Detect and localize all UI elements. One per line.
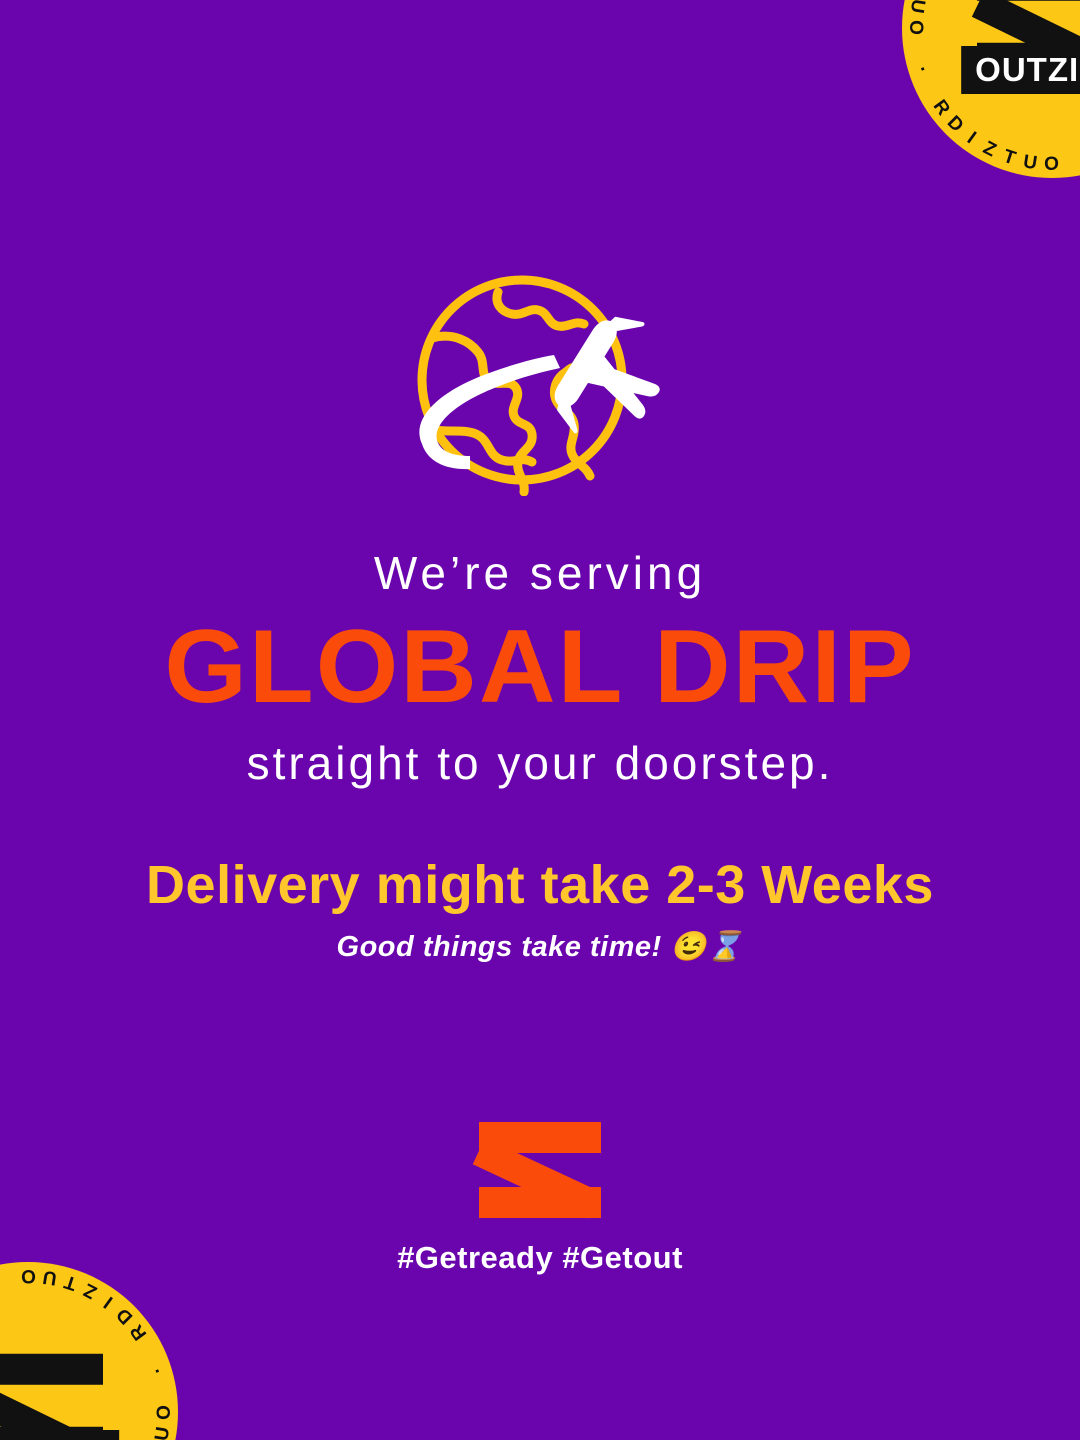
badge-wordmark-text: OUTZIDR <box>975 53 1080 86</box>
badge-wordmark-bar: OUTZIDR <box>961 46 1080 94</box>
badge-z-top-bar <box>0 1354 103 1385</box>
badge-ring-char: D <box>942 112 968 138</box>
outzidr-badge-bottom-left: OUTZIDR · OUTZIDR · OUTZIDR · OUTZIDR · … <box>0 1262 178 1440</box>
badge-z-glyph-icon <box>0 1354 103 1440</box>
badge-ring-char: T <box>61 1269 80 1294</box>
badge-ring-char: Z <box>80 1277 101 1302</box>
badge-ring-char: U <box>905 0 929 16</box>
badge-wordmark-bar: OUTZIDR <box>0 1430 119 1440</box>
badge-ring-char: O <box>20 1264 36 1286</box>
badge-ring-char: U <box>1022 151 1040 175</box>
outzidr-badge-top-right: OUTZIDR · OUTZIDR · OUTZIDR · OUTZIDR · … <box>902 0 1080 178</box>
badge-ring-char: · <box>147 1363 170 1377</box>
delivery-estimate-text: Delivery might take 2-3 Weeks <box>0 856 1080 915</box>
badge-ring-char: I <box>962 128 980 149</box>
eyebrow-text: We’re serving <box>0 548 1080 599</box>
outzidr-z-logo-icon <box>479 1122 601 1218</box>
badge-ring-char <box>1069 152 1079 175</box>
badge-ring-char: U <box>40 1265 58 1289</box>
hero-graphic <box>0 268 1080 496</box>
badge-ring-char <box>139 1342 161 1358</box>
badge-z-mark <box>0 1354 103 1440</box>
delivery-reassurance-text: Good things take time! 😉⌛ <box>0 930 1080 965</box>
badge-ring-char: Z <box>979 137 1000 162</box>
globe-with-airplane-icon <box>370 268 710 496</box>
badge-ring-char: O <box>154 1404 176 1420</box>
badge-ring-char <box>905 45 928 55</box>
badge-ring-char: U <box>151 1424 175 1440</box>
footer-brand-block: #Getready #Getout <box>0 1122 1080 1276</box>
badge-ring-char <box>152 1386 175 1396</box>
badge-ring-char: O <box>1044 154 1060 176</box>
copy-block: We’re serving GLOBAL DRIP straight to yo… <box>0 548 1080 965</box>
badge-ring-char <box>919 82 941 98</box>
page-title: GLOBAL DRIP <box>0 613 1080 722</box>
subline-text: straight to your doorstep. <box>0 738 1080 789</box>
badge-ring-char: R <box>126 1319 152 1344</box>
badge-ring-char: I <box>100 1290 118 1311</box>
badge-ring-char: T <box>1000 146 1019 171</box>
badge-ring-char <box>2 1265 12 1288</box>
badge-ring-char: O <box>904 20 926 36</box>
z-bottom-bar <box>479 1187 601 1218</box>
badge-ring-char: · <box>910 63 933 77</box>
poster-canvas: We’re serving GLOBAL DRIP straight to yo… <box>0 0 1080 1440</box>
